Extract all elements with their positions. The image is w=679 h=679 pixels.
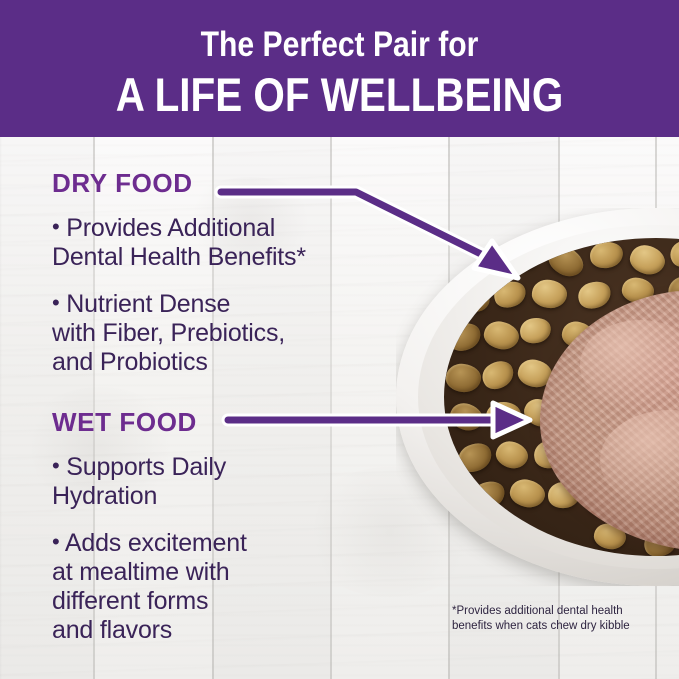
bullet-marker: • [52, 290, 60, 315]
kibble-piece [493, 438, 531, 473]
bullet-marker: • [52, 529, 60, 554]
footnote-line2: benefits when cats chew dry kibble [452, 619, 667, 634]
bullet-text: Adds excitement [65, 529, 247, 557]
kibble-piece [478, 356, 518, 394]
bullet-wet-2: • Adds excitement at mealtime with diffe… [52, 527, 392, 645]
kibble-piece [588, 240, 624, 270]
bullet-dry-2: • Nutrient Dense with Fiber, Prebiotics,… [52, 288, 392, 377]
bullet-dry-1: • Provides Additional Dental Health Bene… [52, 212, 392, 272]
section-heading-dry-food: DRY FOOD [52, 168, 392, 198]
kibble-piece [666, 238, 679, 272]
benefits-text-column: DRY FOOD • Provides Additional Dental He… [52, 168, 392, 645]
kibble-piece [447, 399, 487, 435]
bullet-dry-2-line3: and Probiotics [52, 348, 392, 377]
header-banner: The Perfect Pair for A LIFE OF WELLBEING [0, 0, 679, 137]
section-heading-wet-food: WET FOOD [52, 407, 392, 437]
kibble-piece [481, 318, 521, 353]
bullet-wet-1-line1: • Supports Daily [52, 451, 392, 482]
bullet-marker: • [52, 214, 60, 239]
header-title-line1: The Perfect Pair for [48, 26, 632, 64]
bullet-marker: • [52, 453, 60, 478]
bullet-dry-1-line1: • Provides Additional [52, 212, 392, 243]
bullet-wet-1: • Supports Daily Hydration [52, 451, 392, 511]
bullet-text: Provides Additional [66, 214, 275, 242]
wet-food-pate [540, 290, 679, 552]
footnote-line1: *Provides additional dental health [452, 604, 667, 619]
footnote: *Provides additional dental health benef… [452, 604, 667, 633]
bullet-dry-2-line1: • Nutrient Dense [52, 288, 392, 319]
kibble-piece [485, 401, 522, 431]
bullet-dry-2-line2: with Fiber, Prebiotics, [52, 319, 392, 348]
food-bowl-image [396, 208, 679, 586]
bullet-wet-1-line2: Hydration [52, 482, 392, 511]
bullet-wet-2-line1: • Adds excitement [52, 527, 392, 558]
bullet-dry-1-line2: Dental Health Benefits* [52, 243, 392, 272]
kibble-piece [627, 241, 669, 278]
bullet-wet-2-line3: different forms [52, 587, 392, 616]
poster-canvas: The Perfect Pair for A LIFE OF WELLBEING… [0, 0, 679, 679]
bullet-wet-2-line2: at mealtime with [52, 558, 392, 587]
header-title-line2: A LIFE OF WELLBEING [48, 70, 632, 120]
kibble-piece [445, 362, 483, 394]
bullet-text: Supports Daily [66, 453, 226, 481]
bullet-text: Nutrient Dense [66, 290, 230, 318]
bullet-wet-2-line4: and flavors [52, 616, 392, 645]
